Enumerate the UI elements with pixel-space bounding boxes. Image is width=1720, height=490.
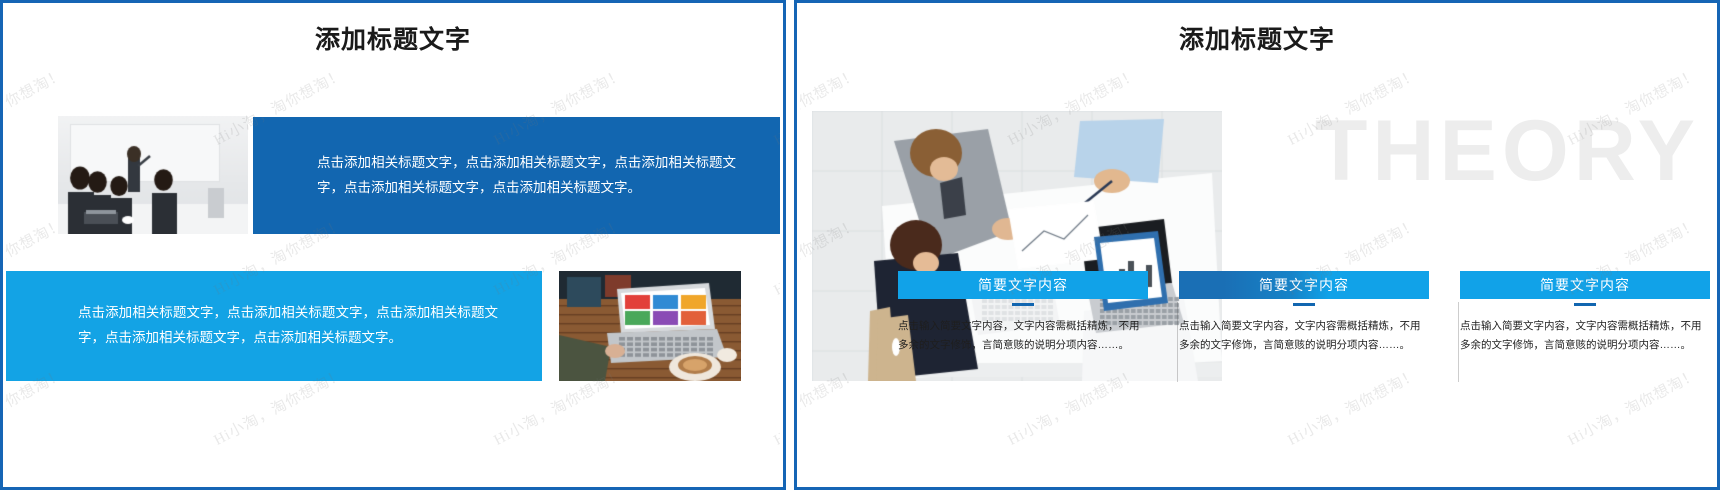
feature-column-3[interactable]: 简要文字内容 点击输入简要文字内容，文字内容需概括精炼，不用多余的文字修饰，言简… [1460,271,1710,391]
slide-right[interactable]: 添加标题文字 THEORY 简要文字内容 点击输入简要文字内容，文字内容需概括精… [794,0,1720,490]
laptop-photo [559,271,741,381]
underline-accent-2 [1293,303,1315,306]
text-band-light[interactable]: 点击添加相关标题文字，点击添加相关标题文字，点击添加相关标题文字，点击添加相关标… [6,271,542,381]
feature-column-2-body: 点击输入简要文字内容，文字内容需概括精炼，不用多余的文字修饰，言简意赅的说明分项… [1179,317,1429,356]
feature-column-3-heading-label: 简要文字内容 [1540,275,1630,295]
page-title: 添加标题文字 [6,20,780,56]
feature-column-2[interactable]: 简要文字内容 点击输入简要文字内容，文字内容需概括精炼，不用多余的文字修饰，言简… [1179,271,1429,391]
text-band-dark-body: 点击添加相关标题文字，点击添加相关标题文字，点击添加相关标题文字，点击添加相关标… [317,151,736,200]
feature-column-1-heading-label: 简要文字内容 [978,275,1068,295]
feature-columns: 简要文字内容 点击输入简要文字内容，文字内容需概括精炼，不用多余的文字修饰，言简… [898,271,1710,391]
underline-accent-3 [1574,303,1596,306]
watermark-text: Hi小淘，淘你想淘！ [770,363,780,450]
theory-background-word: THEORY [1315,102,1700,201]
feature-column-3-header[interactable]: 简要文字内容 [1460,271,1710,299]
slide-left-content: 添加标题文字 点击添加相关标题文字，点击添加相关标题文字，点击添加相关标题文字，… [6,6,780,484]
text-band-light-body: 点击添加相关标题文字，点击添加相关标题文字，点击添加相关标题文字，点击添加相关标… [78,301,498,350]
watermark-layer-left: Hi小淘，淘你想淘！Hi小淘，淘你想淘！Hi小淘，淘你想淘！Hi小淘，淘你想淘！… [6,6,780,484]
underline-accent-1 [1012,303,1034,306]
slide-left[interactable]: 添加标题文字 点击添加相关标题文字，点击添加相关标题文字，点击添加相关标题文字，… [0,0,786,490]
meeting-photo [58,116,248,234]
slide-right-content: 添加标题文字 THEORY 简要文字内容 点击输入简要文字内容，文字内容需概括精… [800,6,1714,484]
text-band-dark[interactable]: 点击添加相关标题文字，点击添加相关标题文字，点击添加相关标题文字，点击添加相关标… [253,117,780,234]
feature-column-2-header[interactable]: 简要文字内容 [1179,271,1429,299]
feature-column-1[interactable]: 简要文字内容 点击输入简要文字内容，文字内容需概括精炼，不用多余的文字修饰，言简… [898,271,1148,391]
slide-pair-canvas: 添加标题文字 点击添加相关标题文字，点击添加相关标题文字，点击添加相关标题文字，… [0,0,1720,490]
feature-column-1-header[interactable]: 简要文字内容 [898,271,1148,299]
feature-column-2-heading-label: 简要文字内容 [1259,275,1349,295]
page-title-right: 添加标题文字 [800,20,1714,56]
feature-column-1-body: 点击输入简要文字内容，文字内容需概括精炼，不用多余的文字修饰，言简意赅的说明分项… [898,317,1148,356]
feature-column-3-body: 点击输入简要文字内容，文字内容需概括精炼，不用多余的文字修饰，言简意赅的说明分项… [1460,317,1710,356]
